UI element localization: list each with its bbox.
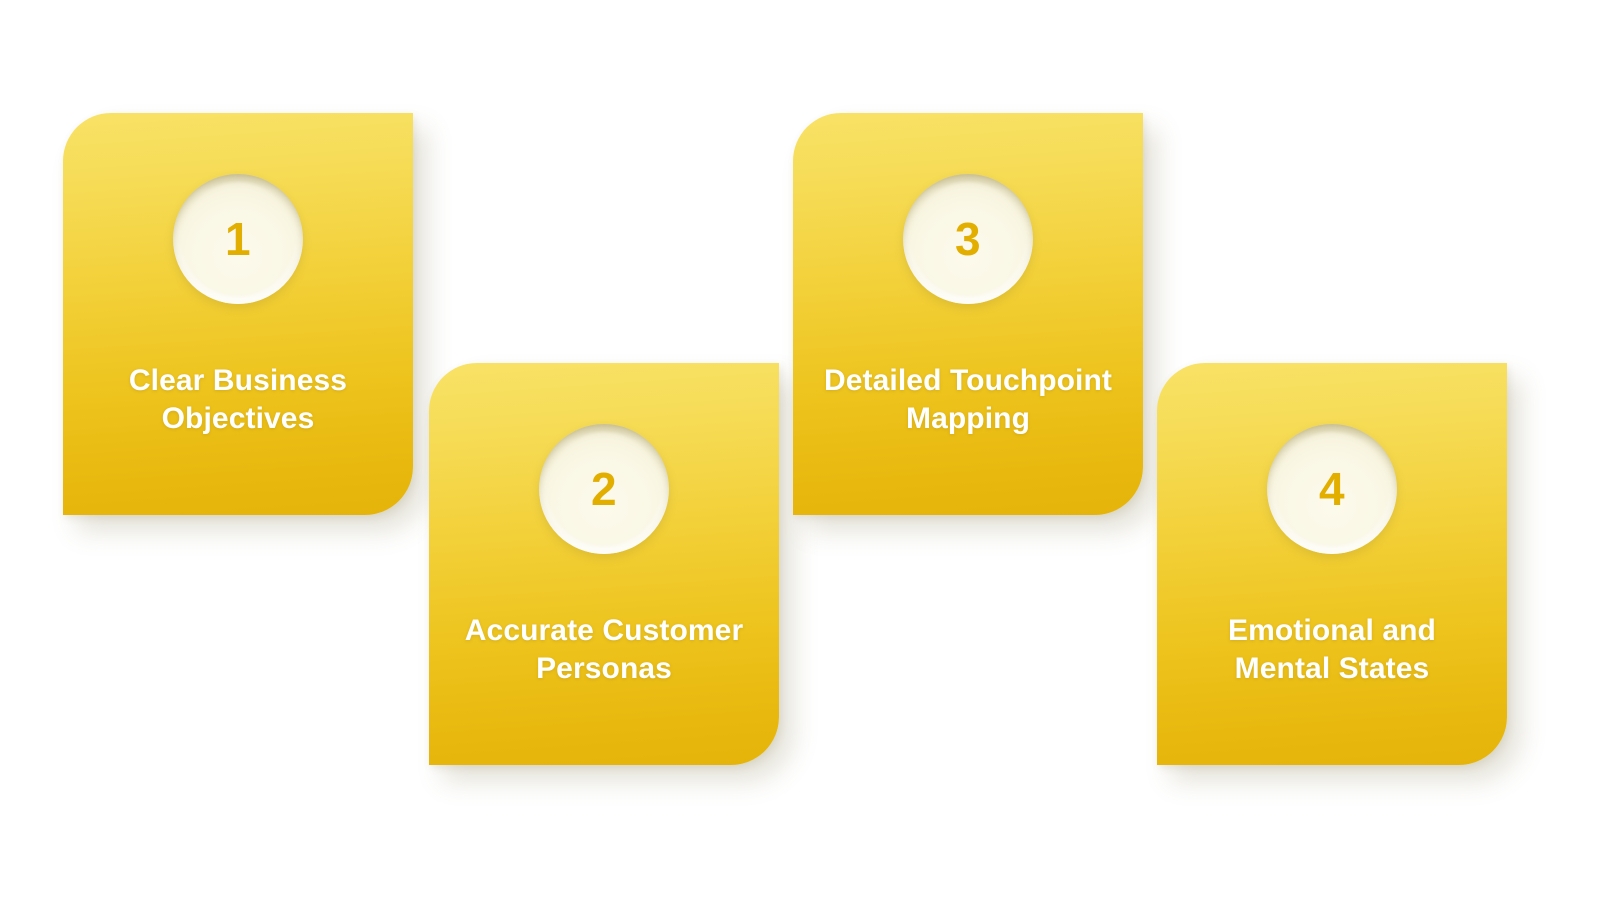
badge-circle-1: 1 [173,174,303,304]
card-title-1: Clear Business Objectives [93,362,383,438]
badge-number-1: 1 [225,216,251,262]
info-card-3[interactable]: 3 Detailed Touchpoint Mapping [793,113,1143,515]
card-title-4: Emotional and Mental States [1187,612,1477,688]
badge-circle-2: 2 [539,424,669,554]
info-card-2[interactable]: 2 Accurate Customer Personas [429,363,779,765]
badge-number-4: 4 [1319,466,1345,512]
badge-circle-4: 4 [1267,424,1397,554]
badge-number-3: 3 [955,216,981,262]
badge-number-2: 2 [591,466,617,512]
card-title-3: Detailed Touchpoint Mapping [823,362,1113,438]
info-card-1[interactable]: 1 Clear Business Objectives [63,113,413,515]
step-badge-3: 3 [903,174,1033,304]
card-title-2: Accurate Customer Personas [459,612,749,688]
step-badge-1: 1 [173,174,303,304]
step-badge-4: 4 [1267,424,1397,554]
step-badge-2: 2 [539,424,669,554]
infographic-stage: 1 Clear Business Objectives 2 Accurate C… [0,0,1600,900]
info-card-4[interactable]: 4 Emotional and Mental States [1157,363,1507,765]
badge-circle-3: 3 [903,174,1033,304]
